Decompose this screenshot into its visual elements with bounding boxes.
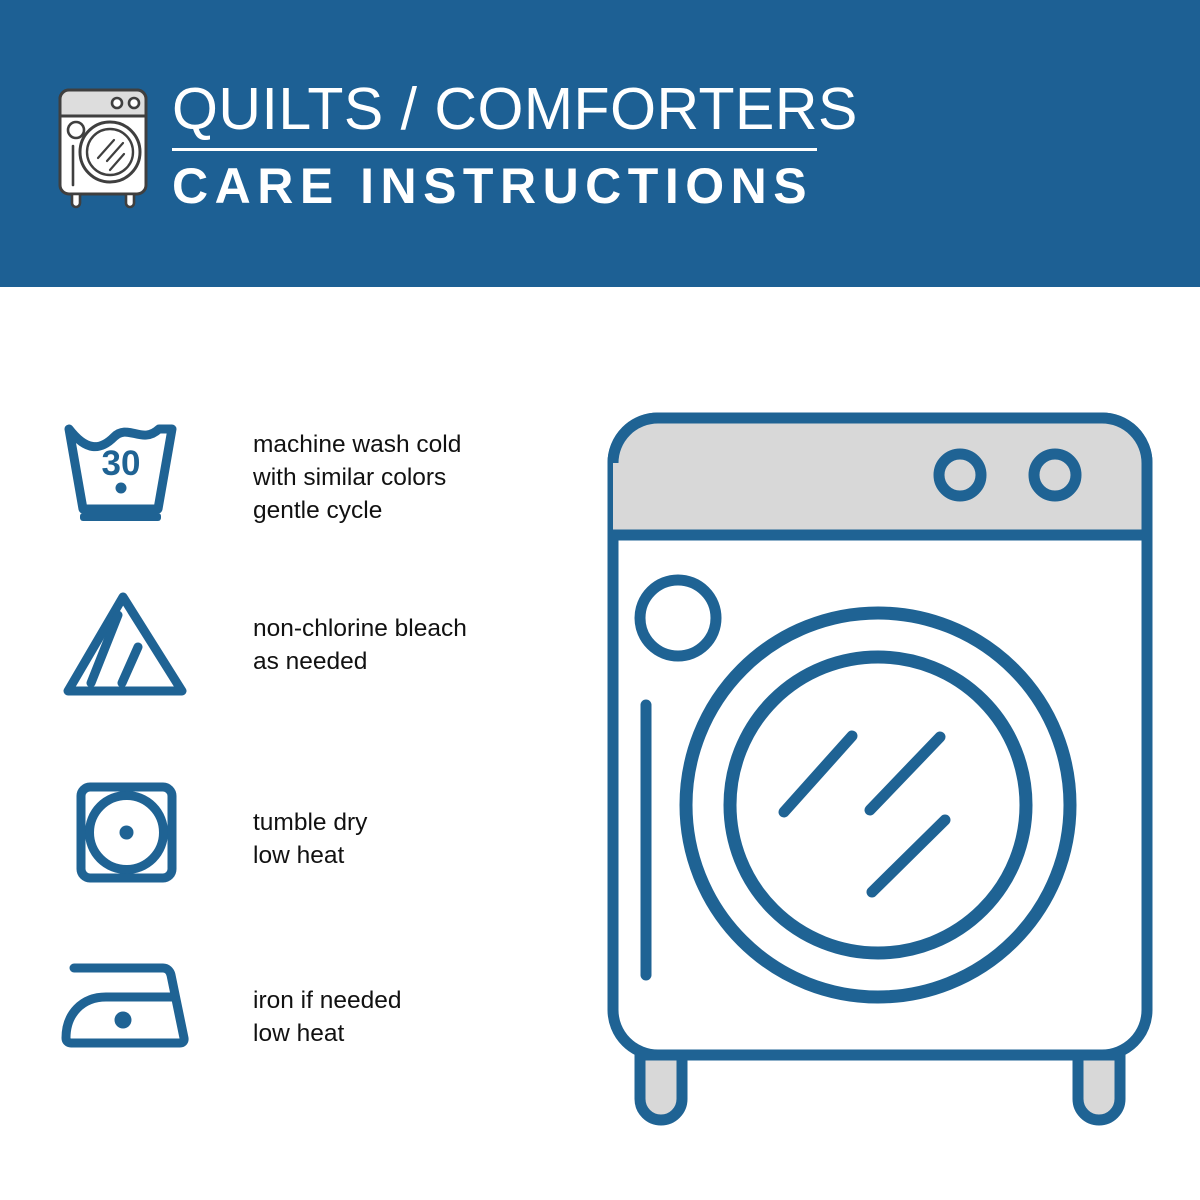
washer-leg-left [640, 1055, 682, 1120]
washer-control-panel [613, 418, 1147, 535]
tumble-dry-icon-wrap [60, 779, 195, 884]
care-instructions-page: QUILTS / COMFORTERS CARE INSTRUCTIONS 30 [0, 0, 1200, 1200]
wash-temperature-value: 30 [102, 444, 141, 483]
care-label-iron: iron if needed low heat [253, 984, 401, 1050]
title-divider [172, 148, 817, 151]
care-label-bleach: non-chlorine bleach as needed [253, 612, 467, 678]
care-row-machine-wash: 30 machine wash cold with similar colors… [60, 417, 530, 527]
machine-wash-icon-wrap: 30 [60, 417, 195, 523]
iron-icon [60, 954, 192, 1052]
care-row-tumble-dry: tumble dry low heat [60, 779, 530, 884]
washing-machine-icon [52, 82, 154, 210]
care-label-machine-wash: machine wash cold with similar colors ge… [253, 428, 461, 527]
iron-icon-wrap [60, 954, 195, 1052]
bleach-icon-wrap [60, 587, 195, 699]
machine-wash-tub-icon: 30 [60, 417, 192, 523]
large-washing-machine-illustration [595, 400, 1165, 1130]
care-row-iron: iron if needed low heat [60, 954, 530, 1052]
care-symbol-list: 30 machine wash cold with similar colors… [0, 287, 540, 1200]
title-block: QUILTS / COMFORTERS CARE INSTRUCTIONS [172, 78, 858, 214]
washer-leg-right [1078, 1055, 1120, 1120]
tumble-dry-heat-dot [120, 826, 134, 840]
page-title: QUILTS / COMFORTERS [172, 78, 858, 140]
non-chlorine-bleach-triangle-icon [60, 587, 192, 699]
care-label-tumble-dry: tumble dry low heat [253, 806, 367, 872]
header-banner: QUILTS / COMFORTERS CARE INSTRUCTIONS [0, 0, 1200, 287]
header-content: QUILTS / COMFORTERS CARE INSTRUCTIONS [52, 78, 858, 214]
iron-heat-dot [115, 1012, 132, 1029]
wash-dot [116, 483, 127, 494]
care-row-bleach: non-chlorine bleach as needed [60, 587, 530, 699]
tumble-dry-square-icon [60, 779, 192, 884]
page-subtitle: CARE INSTRUCTIONS [172, 158, 858, 214]
